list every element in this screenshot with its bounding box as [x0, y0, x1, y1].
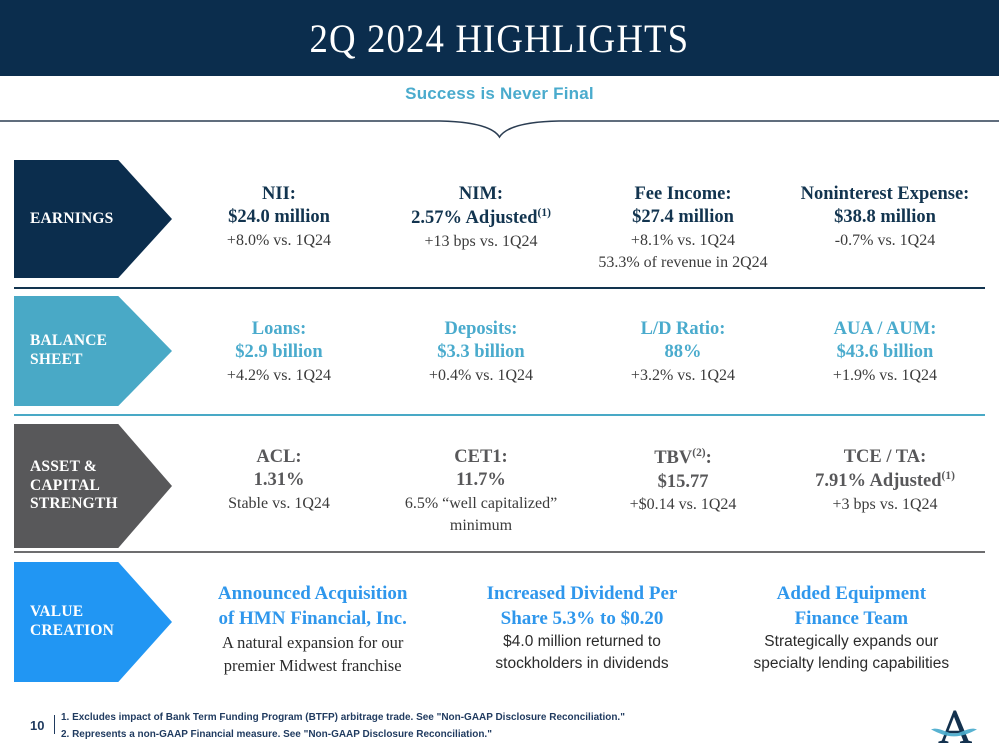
initiative-headline: Announced Acquisitionof HMN Financial, I… — [188, 582, 437, 631]
metric-value: $43.6 billion — [788, 341, 982, 364]
metric-value: $15.77 — [586, 471, 780, 494]
metric-title: Loans: — [182, 318, 376, 341]
tagline: Success is Never Final — [0, 84, 999, 104]
slide-footer: 10 1. Excludes impact of Bank Term Fundi… — [0, 704, 999, 750]
initiative-note: specialty lending capabilities — [727, 654, 976, 674]
metric-column: Fee Income: $27.4 million +8.1% vs. 1Q24… — [582, 183, 784, 301]
metric-title: TCE / TA: — [788, 446, 982, 469]
footnote-line: 1. Excludes impact of Bank Term Funding … — [61, 709, 625, 726]
footnote-line: 2. Represents a non-GAAP Financial measu… — [61, 726, 625, 743]
metric-title: L/D Ratio: — [586, 318, 780, 341]
initiative-note: stockholders in dividends — [457, 654, 706, 674]
metric-column: Announced Acquisitionof HMN Financial, I… — [178, 582, 447, 702]
section-banner-earnings: EARNINGS — [14, 160, 172, 278]
metric-note: +4.2% vs. 1Q24 — [182, 366, 376, 387]
metric-columns-value-creation: Announced Acquisitionof HMN Financial, I… — [178, 562, 986, 702]
metric-value: 11.7% — [384, 469, 578, 492]
metric-value: 2.57% Adjusted(1) — [384, 206, 578, 231]
slide-title-bar: 2Q 2024 HIGHLIGHTS — [0, 0, 999, 76]
metric-title: Noninterest Expense: — [788, 183, 982, 206]
initiative-note: Strategically expands our — [727, 632, 976, 652]
header-divider-with-notch — [0, 108, 999, 140]
metric-title: NII: — [182, 183, 376, 206]
metric-note: +1.9% vs. 1Q24 — [788, 366, 982, 387]
metric-value: $24.0 million — [182, 206, 376, 229]
section-banner-label: VALUECREATION — [30, 603, 114, 641]
metric-column: AUA / AUM: $43.6 billion +1.9% vs. 1Q24 — [784, 318, 986, 428]
section-divider-asset-capital-strength — [14, 551, 985, 553]
metric-value: $27.4 million — [586, 206, 780, 229]
initiative-note: premier Midwest franchise — [188, 655, 437, 676]
metric-columns-earnings: NII: $24.0 million +8.0% vs. 1Q24 NIM: 2… — [178, 160, 986, 301]
metric-value: 1.31% — [182, 469, 376, 492]
section-banner-asset-capital-strength: ASSET &CAPITALSTRENGTH — [14, 424, 172, 548]
section-divider-balance-sheet — [14, 414, 985, 416]
metric-title: Fee Income: — [586, 183, 780, 206]
metric-note: +$0.14 vs. 1Q24 — [586, 495, 780, 516]
metric-columns-balance-sheet: Loans: $2.9 billion +4.2% vs. 1Q24 Depos… — [178, 296, 986, 428]
section-asset-capital-strength: ASSET &CAPITALSTRENGTH ACL: 1.31% Stable… — [0, 424, 999, 548]
metric-note: +3.2% vs. 1Q24 — [586, 366, 780, 387]
metric-columns-asset-capital-strength: ACL: 1.31% Stable vs. 1Q24 CET1: 11.7% 6… — [178, 424, 986, 570]
metric-note: +13 bps vs. 1Q24 — [384, 232, 578, 253]
initiative-headline: Increased Dividend PerShare 5.3% to $0.2… — [457, 582, 706, 631]
initiative-note: A natural expansion for our — [188, 632, 437, 653]
metric-column: L/D Ratio: 88% +3.2% vs. 1Q24 — [582, 318, 784, 428]
section-earnings: EARNINGS NII: $24.0 million +8.0% vs. 1Q… — [0, 160, 999, 278]
metric-column: NIM: 2.57% Adjusted(1) +13 bps vs. 1Q24 — [380, 183, 582, 301]
footnote-ref: (1) — [942, 470, 955, 482]
metric-value: $2.9 billion — [182, 341, 376, 364]
footnotes: 1. Excludes impact of Bank Term Funding … — [61, 709, 625, 743]
metric-value: $38.8 million — [788, 206, 982, 229]
metric-note: Stable vs. 1Q24 — [182, 494, 376, 515]
initiative-headline: Added EquipmentFinance Team — [727, 582, 976, 631]
metric-note: +0.4% vs. 1Q24 — [384, 366, 578, 387]
initiative-note: $4.0 million returned to — [457, 632, 706, 652]
metric-note: minimum — [384, 516, 578, 537]
metric-value: 7.91% Adjusted(1) — [788, 469, 982, 494]
metric-value: 88% — [586, 341, 780, 364]
metric-note: -0.7% vs. 1Q24 — [788, 231, 982, 252]
footnote-ref: (2) — [692, 447, 705, 459]
section-banner-balance-sheet: BALANCESHEET — [14, 296, 172, 406]
letter-a-wave-logo — [927, 706, 981, 748]
metric-column: Added EquipmentFinance Team Strategicall… — [717, 582, 986, 702]
metric-note: +8.0% vs. 1Q24 — [182, 231, 376, 252]
metric-title: TBV(2): — [586, 446, 780, 471]
metric-column: NII: $24.0 million +8.0% vs. 1Q24 — [178, 183, 380, 301]
section-banner-label: BALANCESHEET — [30, 332, 107, 370]
metric-title: ACL: — [182, 446, 376, 469]
metric-title: AUA / AUM: — [788, 318, 982, 341]
metric-title: Deposits: — [384, 318, 578, 341]
metric-column: Loans: $2.9 billion +4.2% vs. 1Q24 — [178, 318, 380, 428]
section-banner-label: EARNINGS — [30, 210, 113, 229]
section-banner-value-creation: VALUECREATION — [14, 562, 172, 682]
metric-note: 6.5% “well capitalized” — [384, 494, 578, 515]
metric-value: $3.3 billion — [384, 341, 578, 364]
footer-separator — [54, 715, 55, 734]
metric-note: +3 bps vs. 1Q24 — [788, 495, 982, 516]
metric-title: CET1: — [384, 446, 578, 469]
metric-note: +8.1% vs. 1Q24 — [586, 231, 780, 252]
metric-title: NIM: — [384, 183, 578, 206]
section-balance-sheet: BALANCESHEET Loans: $2.9 billion +4.2% v… — [0, 296, 999, 406]
metric-column: Noninterest Expense: $38.8 million -0.7%… — [784, 183, 986, 301]
section-banner-label: ASSET &CAPITALSTRENGTH — [30, 458, 118, 515]
footnote-ref: (1) — [538, 207, 551, 219]
metric-column: Deposits: $3.3 billion +0.4% vs. 1Q24 — [380, 318, 582, 428]
page-title: 2Q 2024 HIGHLIGHTS — [310, 15, 690, 62]
section-value-creation: VALUECREATION Announced Acquisitionof HM… — [0, 562, 999, 682]
metric-column: Increased Dividend PerShare 5.3% to $0.2… — [447, 582, 716, 702]
section-divider-earnings — [14, 287, 985, 289]
metric-note: 53.3% of revenue in 2Q24 — [586, 253, 780, 274]
page-number: 10 — [30, 718, 44, 733]
